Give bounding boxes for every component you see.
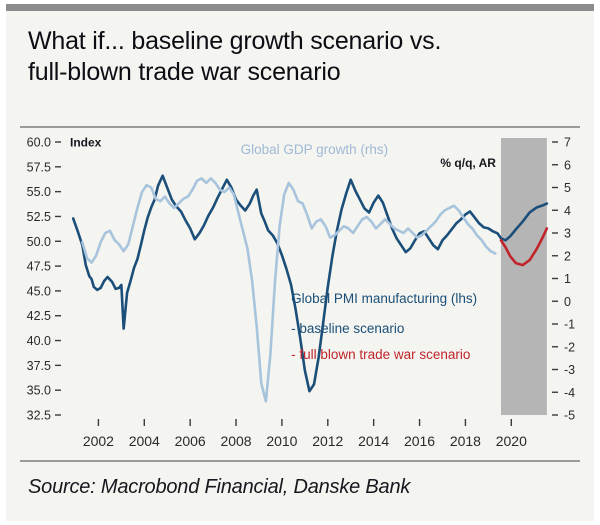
line-chart: 60.057.555.052.550.047.545.042.540.037.5… — [6, 130, 594, 460]
left-axis-unit: Index — [70, 136, 102, 150]
right-tick-label: -3 — [564, 363, 575, 377]
left-tick-label: 60.0 — [27, 136, 51, 150]
page-title: What if... baseline growth scenario vs. … — [28, 26, 574, 88]
x-tick-label: 2014 — [358, 433, 389, 449]
x-tick-label: 2018 — [450, 433, 481, 449]
x-tick-label: 2004 — [129, 433, 160, 449]
left-tick-label: 47.5 — [27, 260, 51, 274]
right-tick-label: 6 — [564, 158, 571, 172]
x-axis-labels-group: 2002200420062008201020122014201620182020 — [83, 433, 527, 449]
left-tick-label: 42.5 — [27, 309, 51, 323]
right-tick-label: -1 — [564, 318, 575, 332]
left-tick-label: 40.0 — [27, 334, 51, 348]
right-tick-label: 7 — [564, 136, 571, 150]
title-line-1: What if... baseline growth scenario vs. — [28, 26, 574, 57]
pmi-label: Global PMI manufacturing (lhs) — [291, 291, 477, 306]
left-tick-label: 45.0 — [27, 284, 51, 298]
title-line-2: full-blown trade war scenario — [28, 57, 574, 88]
series-line — [82, 178, 495, 401]
annotations-group: Global GDP growth (rhs)Global PMI manufa… — [241, 142, 478, 362]
left-tick-label: 55.0 — [27, 185, 51, 199]
x-tick-label: 2012 — [312, 433, 343, 449]
right-tick-label: -4 — [564, 386, 575, 400]
right-tick-label: 0 — [564, 295, 571, 309]
x-tick-label: 2020 — [496, 433, 527, 449]
series-group — [73, 176, 547, 402]
divider-bottom — [20, 460, 580, 462]
source-caption: Source: Macrobond Financial, Danske Bank — [28, 476, 410, 499]
right-tick-label: 1 — [564, 272, 571, 286]
baseline-label: - baseline scenario — [291, 321, 404, 336]
right-tick-label: 3 — [564, 227, 571, 241]
left-tick-label: 50.0 — [27, 235, 51, 249]
right-tick-label: -2 — [564, 340, 575, 354]
chart-page: What if... baseline growth scenario vs. … — [0, 0, 600, 525]
divider-top — [20, 126, 580, 128]
right-tick-label: 4 — [564, 204, 571, 218]
forecast-band — [501, 138, 547, 415]
gdp-label: Global GDP growth (rhs) — [241, 142, 389, 157]
right-tick-label: 2 — [564, 249, 571, 263]
chart-plot-area: 60.057.555.052.550.047.545.042.540.037.5… — [6, 130, 594, 460]
left-tick-label: 37.5 — [27, 359, 51, 373]
left-tick-label: 57.5 — [27, 160, 51, 174]
left-tick-label: 32.5 — [27, 409, 51, 423]
forecast-band-group — [501, 138, 547, 415]
x-axis-ticks-group — [98, 419, 511, 426]
x-tick-label: 2010 — [266, 433, 297, 449]
war-label: - full blown trade war scenario — [291, 347, 470, 362]
x-tick-label: 2008 — [220, 433, 251, 449]
top-accent-bar — [6, 4, 594, 11]
left-tick-label: 52.5 — [27, 210, 51, 224]
x-tick-label: 2006 — [175, 433, 206, 449]
x-tick-label: 2016 — [404, 433, 435, 449]
right-tick-label: -5 — [564, 409, 575, 423]
x-tick-label: 2002 — [83, 433, 114, 449]
right-axis-unit: % q/q, AR — [440, 156, 496, 170]
right-tick-label: 5 — [564, 181, 571, 195]
left-tick-label: 35.0 — [27, 384, 51, 398]
